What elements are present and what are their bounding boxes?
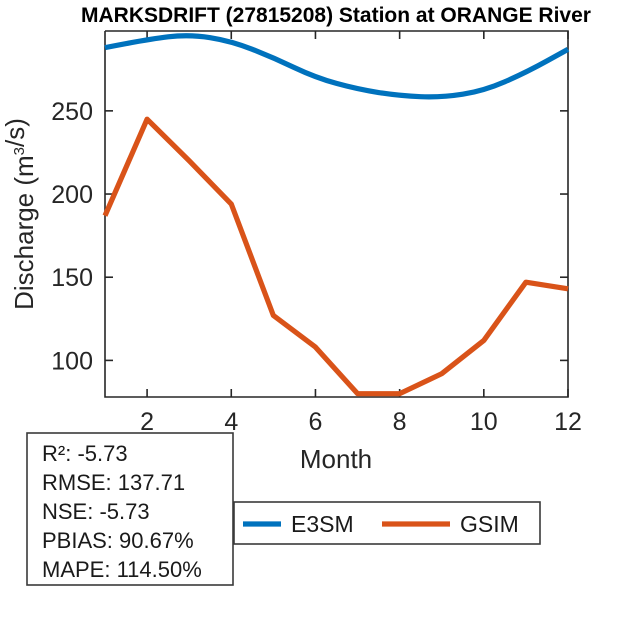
stat-line-r: R²: -5.73 [42,441,128,466]
x-tick-label: 4 [224,408,238,436]
stat-line-rmse: RMSE: 137.71 [42,470,185,495]
statistics-box: R²: -5.73RMSE: 137.71NSE: -5.73PBIAS: 90… [27,433,233,585]
y-tick-label: 200 [51,181,93,209]
stat-line-pbias: PBIAS: 90.67% [42,528,194,553]
stat-line-nse: NSE: -5.73 [42,499,150,524]
chart-title: MARKSDRIFT (27815208) Station at ORANGE … [81,4,591,27]
chart-legend[interactable]: E3SMGSIM [234,502,540,544]
x-tick-label: 6 [309,408,323,436]
y-tick-label: 100 [51,347,93,375]
stat-line-mape: MAPE: 114.50% [42,557,202,582]
chart-canvas: MARKSDRIFT (27815208) Station at ORANGE … [0,0,625,625]
discharge-chart: MARKSDRIFT (27815208) Station at ORANGE … [0,0,625,625]
legend-label-e3sm[interactable]: E3SM [291,511,354,537]
legend-label-gsim[interactable]: GSIM [460,511,519,537]
y-tick-label: 150 [51,264,93,292]
x-tick-label: 10 [470,408,498,436]
y-tick-label: 250 [51,98,93,126]
x-tick-label: 12 [554,408,582,436]
x-tick-label: 2 [140,408,154,436]
x-tick-label: 8 [393,408,407,436]
x-axis-title: Month [300,444,372,474]
